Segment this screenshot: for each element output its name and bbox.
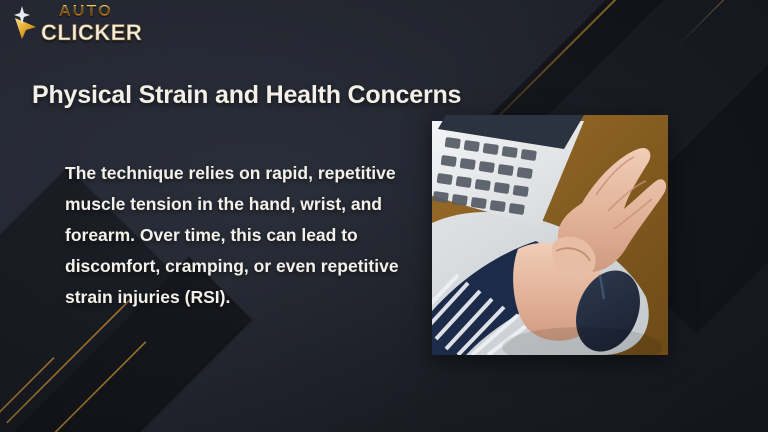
brand-logo-line-auto: AUTO <box>59 4 142 20</box>
brand-logo[interactable]: AUTO CLICKER <box>8 4 142 44</box>
gold-accent-line-bottom-left-1 <box>6 298 131 423</box>
cursor-sparkle-icon <box>8 4 42 44</box>
wrist-pain-photo <box>432 115 668 355</box>
brand-logo-wordmark: AUTO CLICKER <box>41 4 142 44</box>
gold-accent-line-bottom-left-2 <box>46 341 146 432</box>
body-paragraph: The technique relies on rapid, repetitiv… <box>65 158 405 313</box>
gold-accent-line-top-right-thin <box>678 0 764 45</box>
gold-accent-line-bottom-left-3 <box>0 357 55 426</box>
diagonal-band-top-right-outer <box>652 0 768 251</box>
page-title: Physical Strain and Health Concerns <box>32 81 502 110</box>
brand-logo-line-clicker: CLICKER <box>41 22 142 44</box>
slide-canvas: AUTO CLICKER Physical Strain and Health … <box>0 0 768 432</box>
